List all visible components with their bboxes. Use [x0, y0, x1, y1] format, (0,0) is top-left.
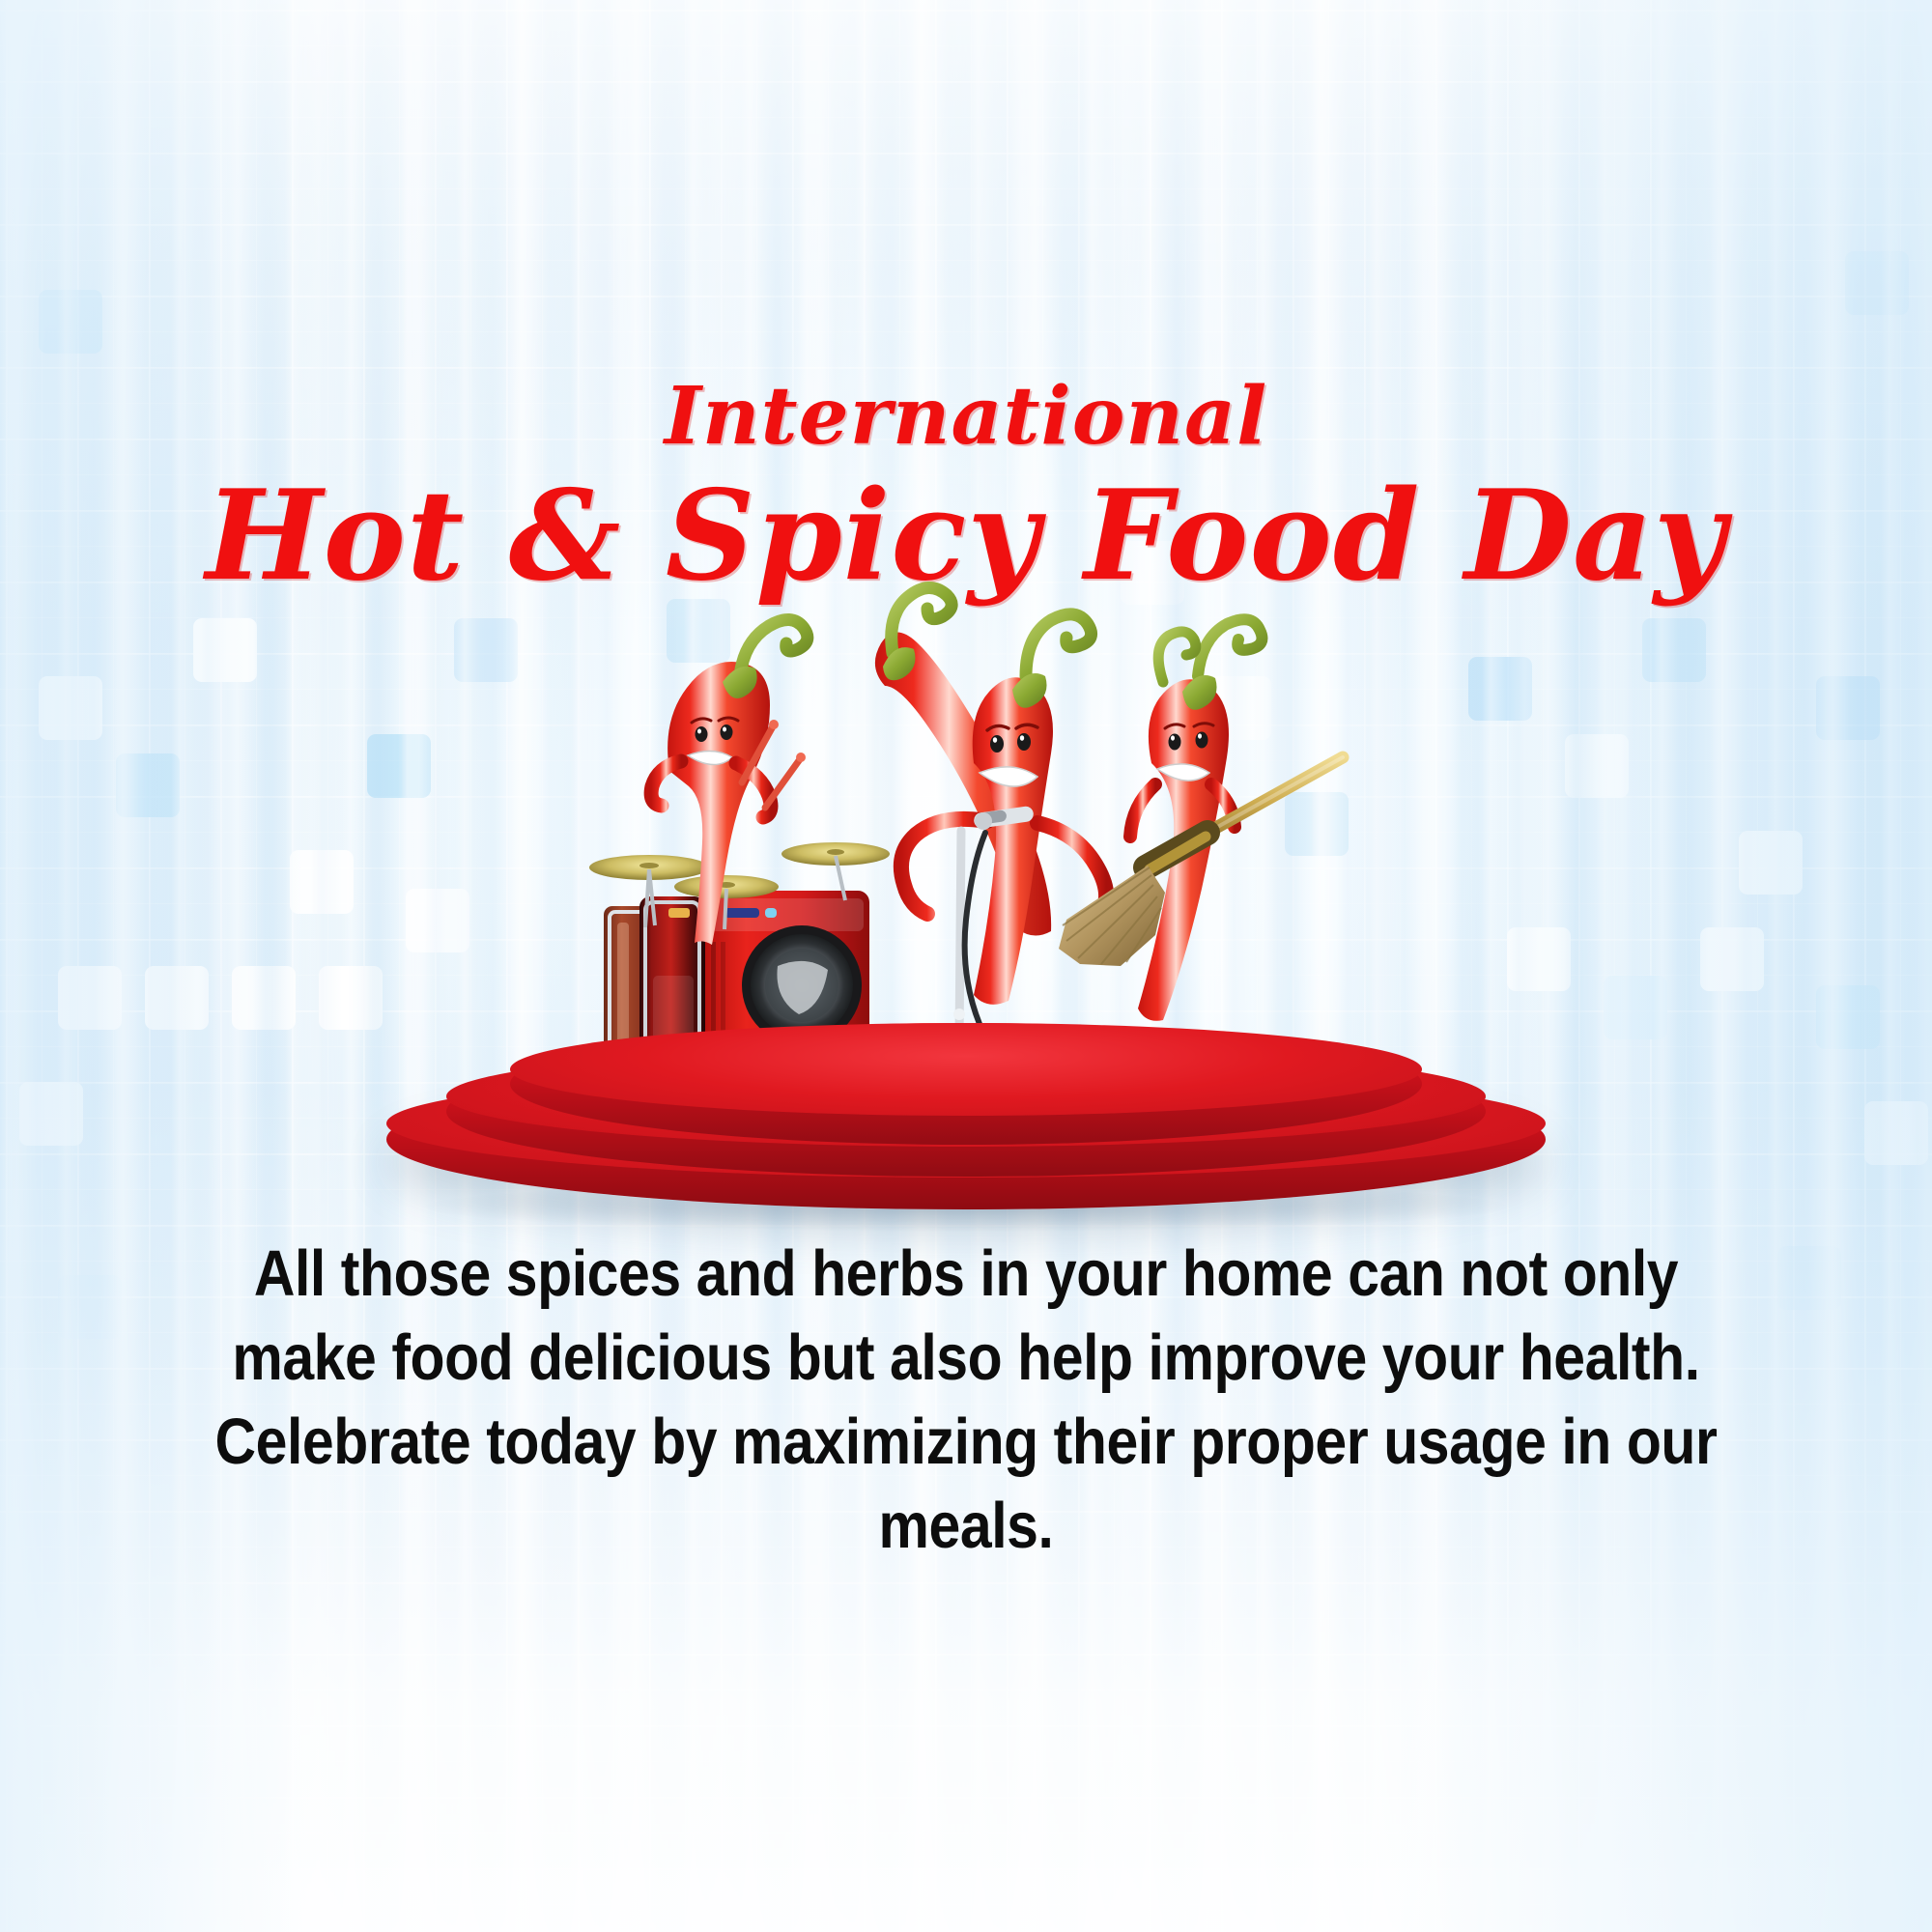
poster-canvas: International Hot & Spicy Food Day: [0, 0, 1932, 1932]
singer-chili-icon: [973, 614, 1108, 1005]
cymbal-icon-left: [589, 855, 709, 927]
backup-chili-icon: [875, 587, 1051, 935]
poster-body-text: All those spices and herbs in your home …: [210, 1232, 1722, 1568]
background-vertical-fade: [0, 0, 1932, 1932]
drumstick-icon-1: [742, 720, 779, 782]
background-vertical-stripes-fine: [0, 0, 1932, 1932]
title-line-hot-and-spicy-food-day: Hot & Spicy Food Day: [0, 471, 1932, 601]
drumstick-icon-2: [765, 753, 806, 808]
background-mosaic-pattern: [0, 0, 1932, 1932]
background-side-fade: [0, 0, 1932, 1932]
microphone-icon: [973, 806, 1035, 830]
stage-tier-top-top: [510, 1023, 1422, 1116]
title-line-international: International: [0, 377, 1932, 456]
guitarist-chili-icon: [1130, 619, 1262, 1021]
drummer-chili-icon: [651, 619, 808, 945]
poster-title: International Hot & Spicy Food Day: [0, 377, 1932, 601]
chili-band-illustration: [0, 0, 1932, 1932]
background-accent-tiles: [0, 0, 1932, 1932]
background-vertical-stripes: [0, 0, 1932, 1932]
broom-icon: [1059, 757, 1343, 966]
cymbal-icon-right: [781, 842, 890, 900]
stage-podium: [386, 1009, 1546, 1203]
cymbal-icon-center: [674, 875, 779, 929]
